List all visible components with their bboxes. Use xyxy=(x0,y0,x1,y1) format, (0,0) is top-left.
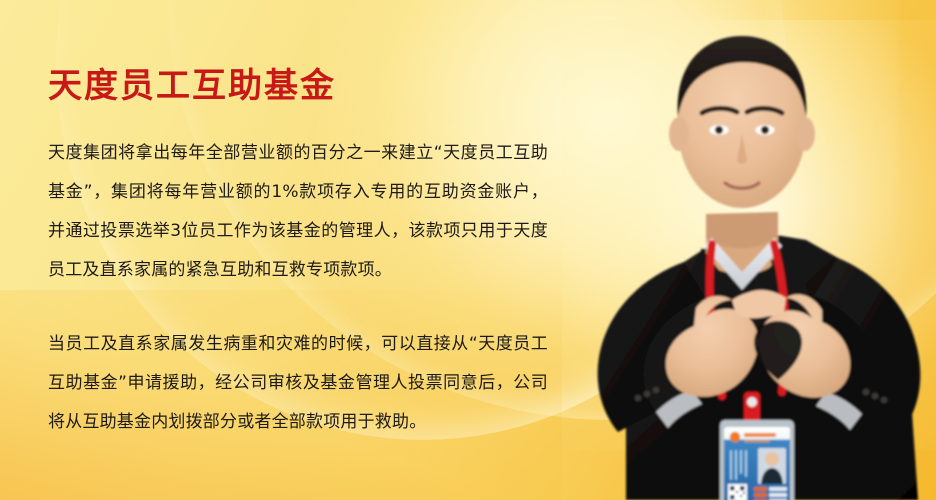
badge-logo-subtext xyxy=(744,440,770,442)
badge-portrait-head xyxy=(765,452,779,466)
pupil-left xyxy=(715,126,723,134)
ear-left xyxy=(669,117,689,151)
ear-right xyxy=(795,117,815,151)
page-title: 天度员工互助基金 xyxy=(48,68,336,105)
lanyard-clip-stud xyxy=(747,397,757,407)
fund-description-paragraph-1: 天度集团将拿出每年全部营业额的百分之一来建立“天度员工互助基金”，集团将每年营业… xyxy=(48,134,548,290)
badge-logo-mark xyxy=(730,432,740,442)
fund-description-paragraph-2: 当员工及直系家属发生病重和灾难的时候，可以直接从“天度员工互助基金”申请援助，经… xyxy=(48,325,548,442)
text-content: 天度员工互助基金 天度集团将拿出每年全部营业额的百分之一来建立“天度员工互助基金… xyxy=(48,0,553,500)
person-photo xyxy=(506,0,936,500)
neck-shadow xyxy=(706,212,778,248)
employee-id-badge xyxy=(720,420,794,500)
employee-mutual-aid-fund-banner: 天度员工互助基金 天度集团将拿出每年全部营业额的百分之一来建立“天度员工互助基金… xyxy=(0,0,936,500)
badge-logo-text xyxy=(744,433,776,437)
pupil-right xyxy=(761,126,769,134)
